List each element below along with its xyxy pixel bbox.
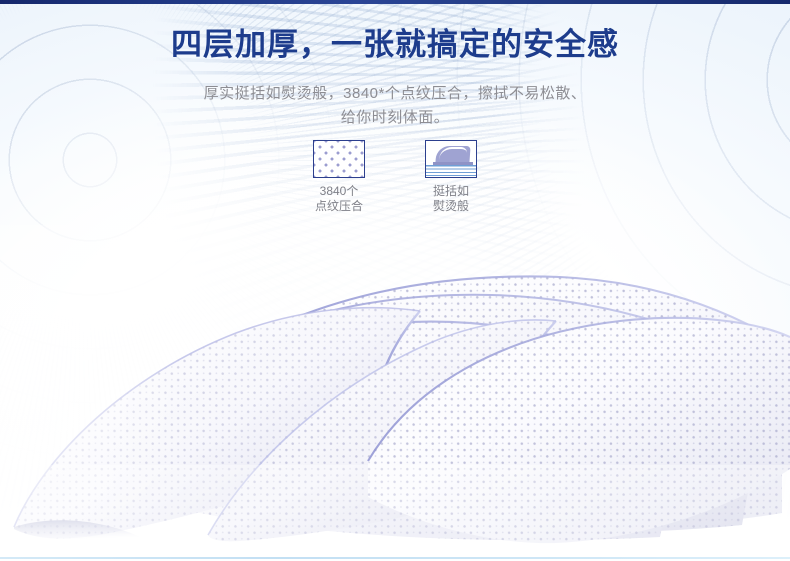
feature-badge-emboss: 3840个 点纹压合 <box>311 140 367 214</box>
iron-icon <box>425 140 477 178</box>
iron-handle-shape <box>439 147 467 160</box>
dotted-lattice-icon <box>313 140 365 178</box>
feature-caption-emboss-line-2: 点纹压合 <box>311 199 367 214</box>
feature-caption-iron-line-2: 熨烫般 <box>423 199 479 214</box>
subtitle: 厚实挺括如熨烫般，3840*个点纹压合，擦拭不易松散、 给你时刻体面。 <box>0 82 790 130</box>
bottom-blue-line <box>0 557 790 559</box>
tissue-bottom-fade <box>0 465 790 545</box>
feature-caption-emboss-line-1: 3840个 <box>311 184 367 199</box>
feature-caption-iron: 挺括如 熨烫般 <box>423 184 479 214</box>
feature-caption-emboss: 3840个 点纹压合 <box>311 184 367 214</box>
page-title: 四层加厚，一张就搞定的安全感 <box>0 26 790 64</box>
subtitle-line-1: 厚实挺括如熨烫般，3840*个点纹压合，擦拭不易松散、 <box>0 82 790 106</box>
feature-badge-list: 3840个 点纹压合 挺括如 熨烫般 <box>0 140 790 214</box>
product-image-layered-tissue <box>0 225 790 545</box>
iron-fabric-lines <box>426 165 476 176</box>
top-navy-strip <box>0 0 790 4</box>
subtitle-line-2: 给你时刻体面。 <box>0 106 790 130</box>
promo-banner: 四层加厚，一张就搞定的安全感 厚实挺括如熨烫般，3840*个点纹压合，擦拭不易松… <box>0 0 790 561</box>
feature-caption-iron-line-1: 挺括如 <box>423 184 479 199</box>
feature-badge-iron: 挺括如 熨烫般 <box>423 140 479 214</box>
dot-pattern <box>314 141 364 177</box>
tissue-illustration-svg <box>0 225 790 545</box>
